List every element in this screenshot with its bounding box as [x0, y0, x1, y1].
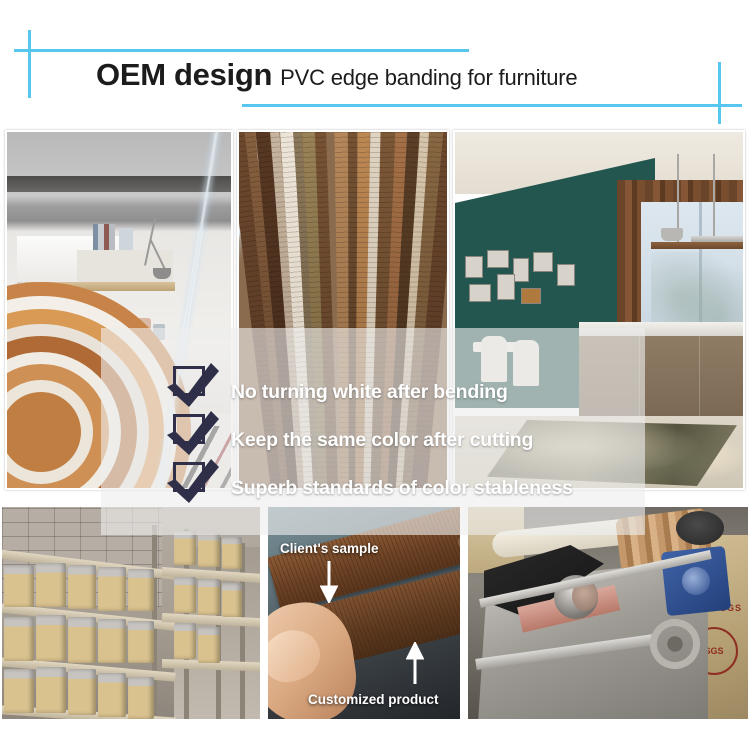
check-mark-icon	[163, 453, 221, 507]
ceiling-beam	[7, 176, 231, 192]
feature-list: No turning white after bending Keep the …	[101, 328, 645, 535]
customized-product-label: Customized product	[308, 692, 439, 707]
gallery-row-bottom: Client's sample Customized product C-SGS…	[0, 505, 750, 721]
header-rule-vertical-left	[28, 30, 31, 98]
picture-frame-gallery	[463, 250, 591, 320]
feature-item-3: Superb standards of color stableness	[173, 464, 645, 512]
header-rule-horizontal-right	[242, 104, 742, 107]
feature-item-2: Keep the same color after cutting	[173, 416, 645, 464]
feature-item-1: No turning white after bending	[173, 368, 645, 416]
feature-label: Keep the same color after cutting	[231, 429, 533, 452]
floating-shelf	[651, 242, 745, 249]
lamp-shade	[153, 268, 171, 279]
checkbox-icon	[173, 366, 205, 396]
arrow-down-icon	[320, 561, 338, 608]
photo-warehouse[interactable]	[0, 505, 262, 721]
checkbox-icon	[173, 414, 205, 444]
checkbox-icon	[173, 462, 205, 492]
books-decor	[93, 224, 115, 252]
gallery-row-top: No turning white after bending Keep the …	[5, 130, 745, 490]
client-sample-label: Client's sample	[280, 541, 379, 556]
header-rule-horizontal-left	[14, 49, 469, 52]
check-mark-icon	[163, 357, 221, 411]
page-title: OEM design PVC edge banding for furnitur…	[96, 57, 577, 93]
check-mark-icon	[163, 405, 221, 459]
control-wheel	[676, 511, 724, 545]
jar-decor	[119, 228, 133, 252]
feature-label: No turning white after bending	[231, 381, 508, 404]
photo-sample-comparison[interactable]: Client's sample Customized product	[266, 505, 462, 721]
photo-production-machine[interactable]: C-SGS SGS	[466, 505, 750, 721]
feature-label: Superb standards of color stableness	[231, 477, 573, 500]
banner-header: OEM design PVC edge banding for furnitur…	[0, 0, 750, 126]
feature-overlay-panel: No turning white after bending Keep the …	[101, 328, 645, 535]
arrow-up-icon	[406, 642, 424, 689]
title-emphasis: OEM design	[96, 57, 272, 93]
header-rule-vertical-right	[718, 62, 721, 124]
stored-banding-rolls	[2, 507, 260, 719]
cooking-pot	[661, 228, 683, 241]
title-subtitle: PVC edge banding for furniture	[280, 65, 577, 91]
